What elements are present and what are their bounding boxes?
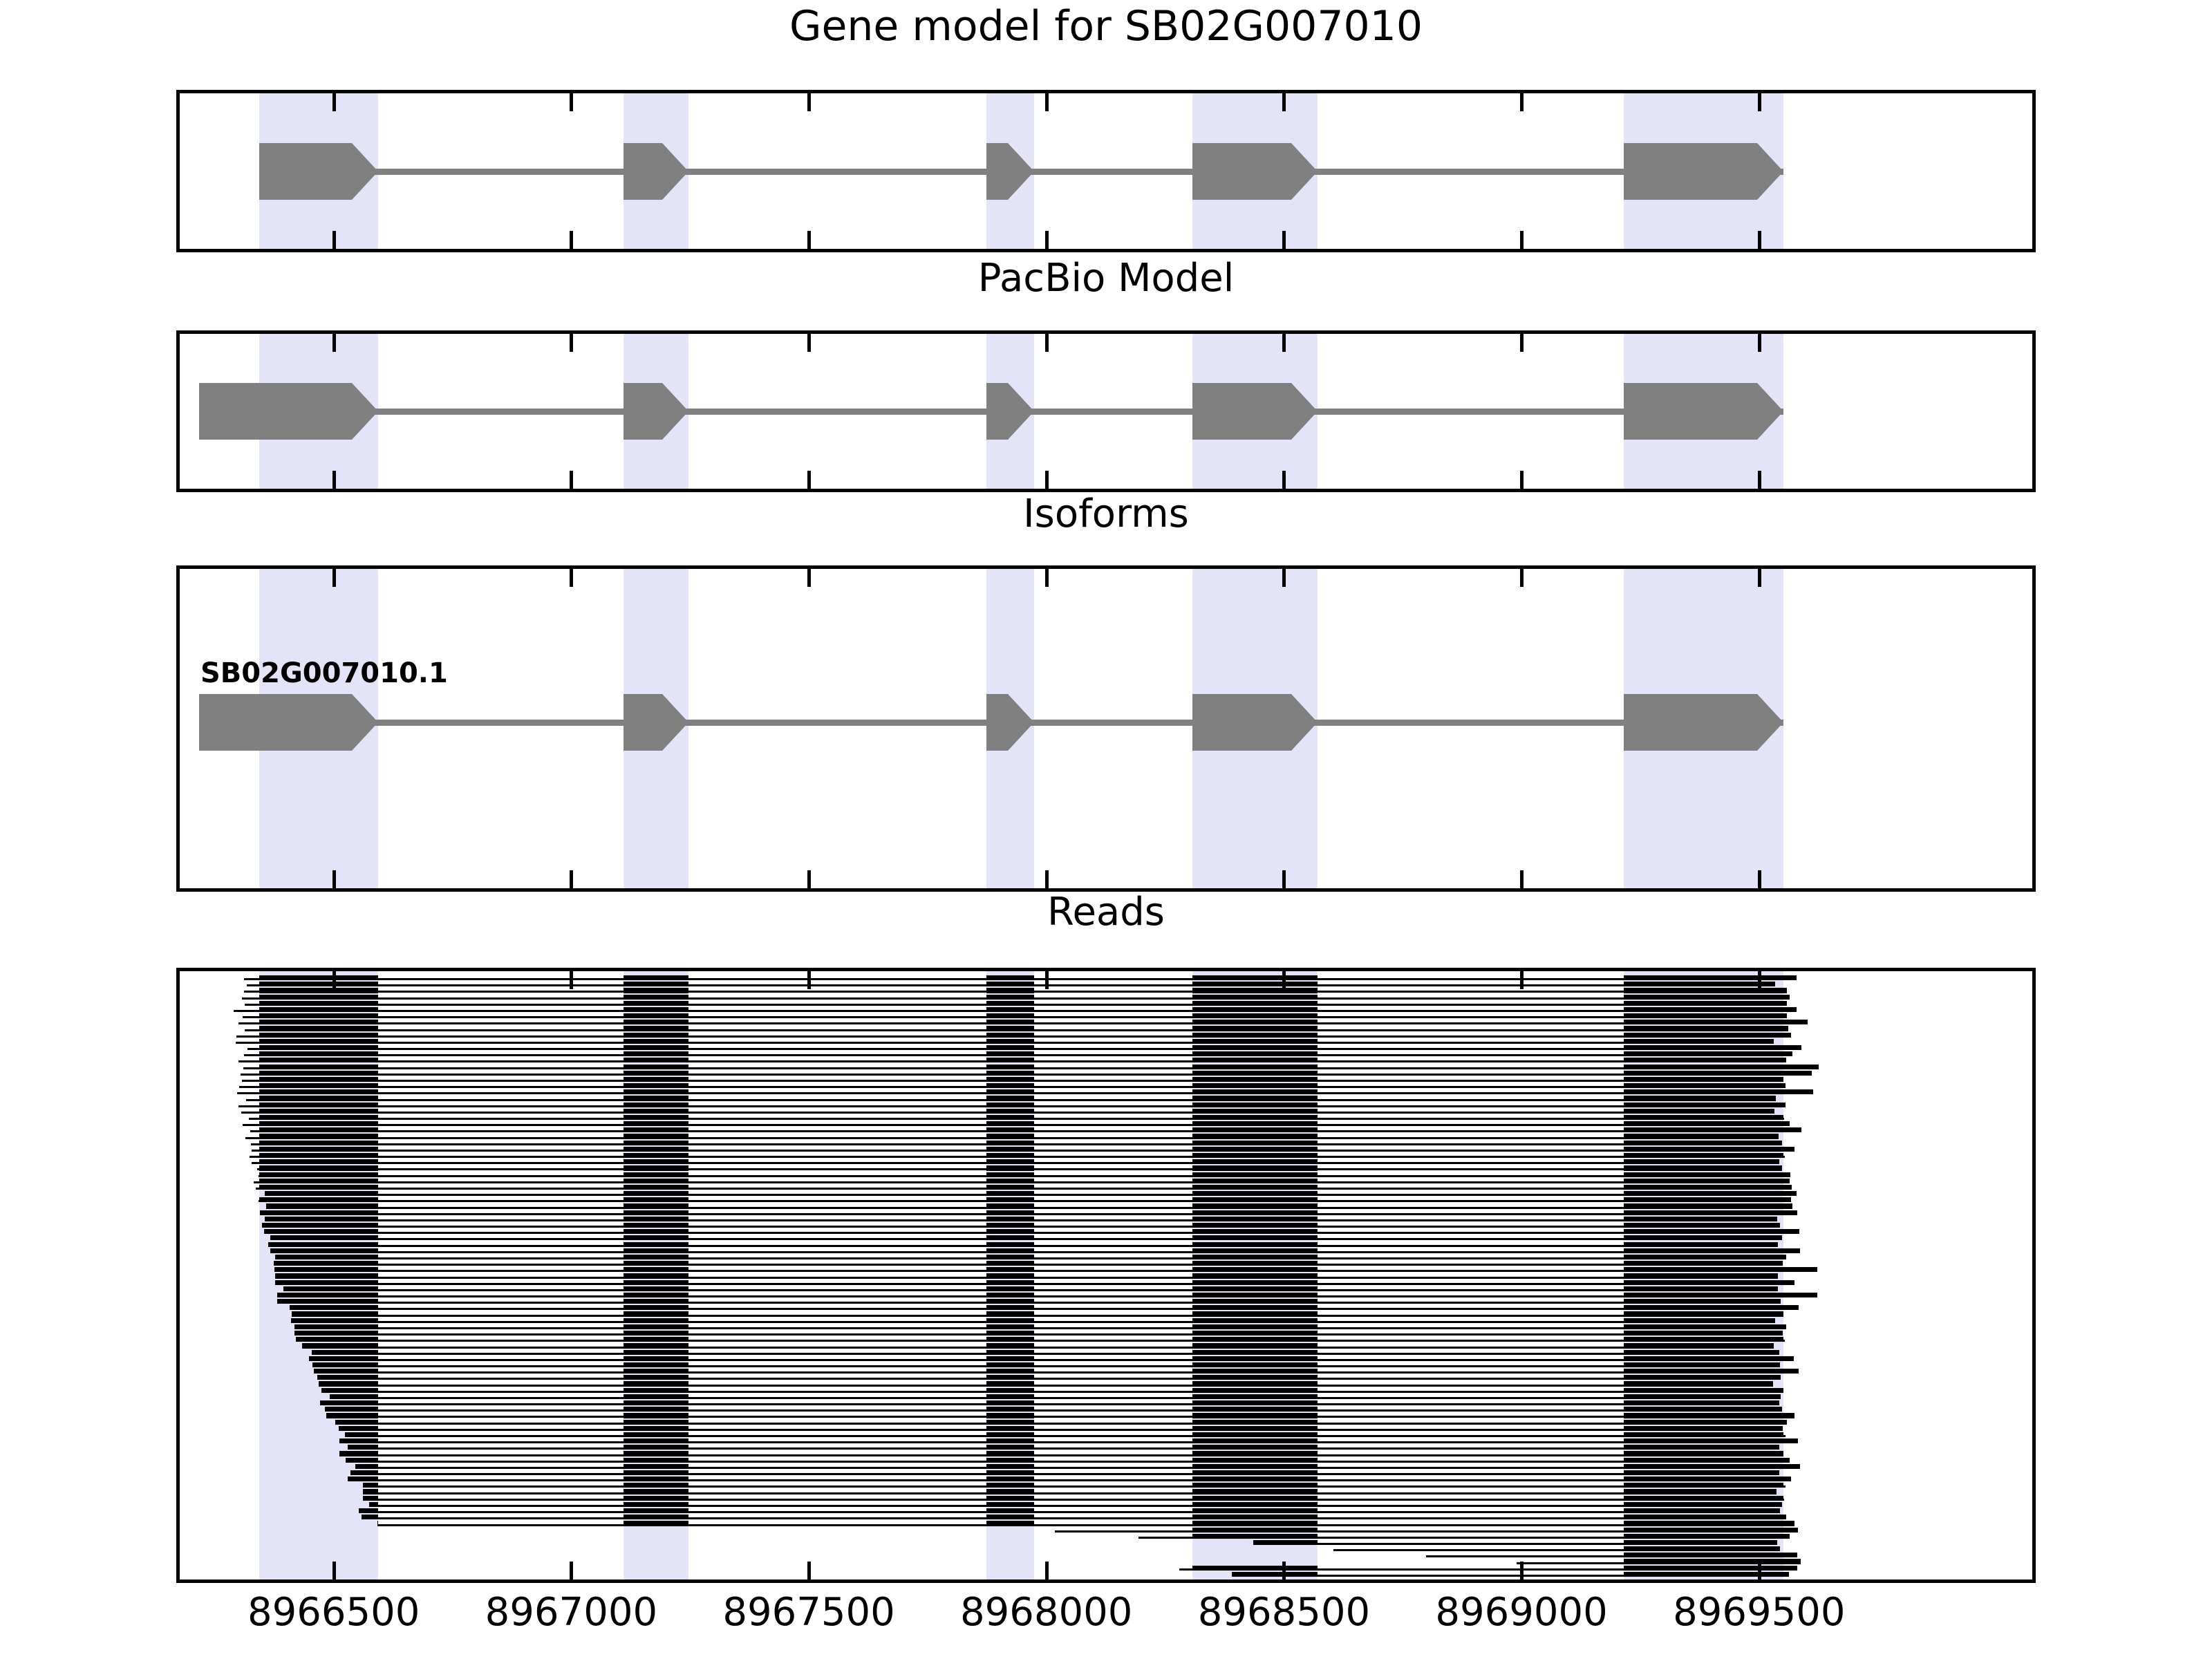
axis-tick-8968000 (1045, 471, 1049, 489)
exon-body (986, 694, 1008, 751)
read-exon-block (1192, 1508, 1318, 1513)
read-exon-block (624, 1210, 688, 1215)
read-intron-line (309, 1359, 1794, 1361)
axis-tick-8967500 (807, 870, 811, 888)
read-exon-block (986, 1026, 1034, 1031)
read-exon-block (624, 1026, 688, 1031)
read-exon-block (265, 1191, 379, 1196)
read-intron-line (330, 1397, 1781, 1399)
axis-tick-8966500 (332, 569, 336, 587)
read-exon-block (986, 1356, 1034, 1361)
axis-tick-8966500 (332, 1562, 336, 1580)
read-exon-block (1624, 1464, 1783, 1469)
axis-tick-8967000 (570, 93, 573, 111)
exon-block-1 (199, 694, 378, 751)
read-exon-block (624, 1394, 688, 1399)
exon-body (1624, 383, 1757, 440)
read-exon-block (1192, 1141, 1318, 1145)
read-exon-block (363, 1496, 378, 1501)
read-exon-block (362, 1515, 378, 1519)
read-exon-block (1624, 1483, 1783, 1488)
read-exon-block (275, 1255, 378, 1259)
read-exon-block (259, 1007, 379, 1012)
read-exon-block (624, 1058, 688, 1062)
read-exon-block (1624, 1407, 1782, 1412)
read-exon-block (1624, 1134, 1779, 1138)
read-exon-block (259, 988, 379, 993)
read-terminal-block (1783, 1172, 1790, 1177)
read-exon-block (986, 1007, 1034, 1012)
read-exon-block (624, 1343, 688, 1348)
read-intron-line (274, 1270, 1817, 1272)
read-exon-block (1192, 1191, 1318, 1196)
read-exon-block (624, 1109, 688, 1114)
axis-tick-8969500 (1758, 569, 1761, 587)
read-exon-block (624, 1185, 688, 1190)
read-exon-block (1192, 1217, 1318, 1221)
axis-tick-8969500 (1758, 93, 1761, 111)
read-exon-block (259, 1121, 379, 1126)
read-terminal-block (1783, 1521, 1794, 1526)
read-exon-block (1192, 1451, 1318, 1456)
read-exon-block (624, 1115, 688, 1120)
axis-tick-8966500 (332, 870, 336, 888)
read-exon-block (1624, 1426, 1783, 1431)
x-tick-label-8969000: 8969000 (1435, 1593, 1607, 1632)
exon-body (624, 694, 662, 751)
panel-reads (176, 968, 2036, 1583)
read-exon-block (1192, 1534, 1318, 1539)
read-exon-block (1624, 1420, 1783, 1425)
exon-arrowhead (662, 694, 688, 751)
read-exon-block (345, 1432, 379, 1437)
read-exon-block (1624, 1255, 1783, 1259)
axis-tick-8968000 (1045, 93, 1049, 111)
read-terminal-block (1783, 1013, 1787, 1018)
read-exon-block (1624, 1210, 1783, 1215)
exon-body (1624, 143, 1757, 200)
read-exon-block (624, 975, 688, 980)
read-intron-line (363, 1485, 1785, 1488)
read-exon-block (986, 1248, 1034, 1253)
read-exon-block (259, 1115, 379, 1120)
read-exon-block (1192, 1255, 1318, 1259)
read-exon-block (259, 1127, 379, 1132)
read-exon-block (1192, 1127, 1318, 1132)
read-exon-block (314, 1369, 378, 1374)
read-exon-block (986, 1293, 1034, 1297)
read-exon-block (1624, 1521, 1783, 1526)
read-terminal-block (1783, 1089, 1813, 1094)
axis-tick-8969500 (1758, 231, 1761, 249)
read-exon-block (259, 1185, 379, 1190)
read-terminal-block (1783, 988, 1787, 993)
axis-tick-8968000 (1045, 231, 1049, 249)
read-exon-block (1624, 1103, 1783, 1107)
read-exon-block (986, 1318, 1034, 1323)
axis-tick-8967000 (570, 1562, 573, 1580)
axis-tick-8969000 (1520, 231, 1524, 249)
read-terminal-block (1783, 1248, 1801, 1253)
read-exon-block (986, 1109, 1034, 1114)
read-exon-block (1192, 1426, 1318, 1431)
read-terminal-block (1783, 1305, 1799, 1310)
read-terminal-block (1783, 1071, 1812, 1076)
axis-tick-8969000 (1520, 93, 1524, 111)
read-exon-block (624, 1508, 688, 1513)
panel-title-reads: Reads (0, 893, 2212, 932)
read-exon-block (1624, 1553, 1783, 1557)
read-exon-block (624, 1077, 688, 1082)
read-exon-block (339, 1426, 378, 1431)
read-exon-block (986, 1261, 1034, 1266)
read-exon-block (1624, 1311, 1783, 1316)
read-exon-block (259, 1134, 379, 1138)
read-exon-block (1624, 1337, 1783, 1342)
read-intron-line (346, 1461, 1789, 1463)
read-exon-block (350, 1470, 378, 1475)
read-exon-block (1624, 1039, 1774, 1044)
read-exon-block (259, 1165, 379, 1170)
read-exon-block (1192, 1470, 1318, 1475)
read-exon-block (259, 1172, 379, 1177)
read-exon-block (1192, 1515, 1318, 1519)
read-exon-block (1192, 1197, 1318, 1202)
read-exon-block (986, 1400, 1034, 1405)
read-exon-block (624, 1203, 688, 1208)
read-exon-block (1624, 1071, 1783, 1076)
read-exon-block (259, 1141, 379, 1145)
read-exon-block (986, 1337, 1034, 1342)
read-intron-line (294, 1327, 1786, 1329)
read-terminal-block (1783, 1534, 1790, 1539)
read-exon-block (1192, 1311, 1318, 1316)
read-terminal-block (1783, 1369, 1799, 1374)
read-exon-block (1192, 1235, 1318, 1240)
read-terminal-block (1783, 1001, 1787, 1006)
read-terminal-block (1783, 1566, 1797, 1571)
read-exon-block (1192, 1261, 1318, 1266)
read-terminal-block (1783, 1197, 1791, 1202)
read-exon-block (259, 1013, 379, 1018)
read-exon-block (1192, 988, 1318, 993)
read-exon-block (1192, 1039, 1318, 1044)
read-exon-block (624, 1477, 688, 1481)
read-exon-block (986, 1470, 1034, 1475)
read-exon-block (624, 1103, 688, 1107)
read-exon-block (1624, 1540, 1777, 1545)
read-terminal-block (1783, 1191, 1797, 1196)
read-exon-block (1192, 1400, 1318, 1405)
read-exon-block (624, 1331, 688, 1335)
read-exon-block (624, 1432, 688, 1437)
axis-tick-8969500 (1758, 471, 1761, 489)
exon-arrowhead (352, 383, 378, 440)
exon-arrowhead (1757, 143, 1783, 200)
read-exon-block (986, 988, 1034, 993)
read-exon-block (325, 1407, 379, 1412)
read-intron-line (296, 1340, 1784, 1342)
read-exon-block (363, 1489, 378, 1494)
exon-arrowhead (1008, 143, 1034, 200)
read-exon-block (986, 1458, 1034, 1463)
read-intron-line (359, 1511, 1780, 1513)
read-exon-block (986, 1331, 1034, 1335)
panel-isoforms: SB02G007010.1 (176, 565, 2036, 892)
read-exon-block (624, 1153, 688, 1158)
read-exon-block (624, 1286, 688, 1291)
read-exon-block (1624, 1147, 1783, 1152)
read-exon-block (986, 1077, 1034, 1082)
read-exon-block (986, 1071, 1034, 1076)
axis-tick-8967000 (570, 471, 573, 489)
exon-arrowhead (352, 143, 378, 200)
exon-body (1192, 694, 1291, 751)
read-exon-block (1192, 1337, 1318, 1342)
read-exon-block (359, 1508, 378, 1513)
read-exon-block (346, 1458, 378, 1463)
x-tick-label-8969500: 8969500 (1673, 1593, 1845, 1632)
read-exon-block (624, 1324, 688, 1329)
read-intron-line (320, 1403, 1779, 1405)
axis-tick-8967500 (807, 334, 811, 352)
read-exon-block (1624, 1305, 1783, 1310)
read-exon-block (1624, 1331, 1783, 1335)
read-exon-block (296, 1337, 378, 1342)
read-exon-block (1253, 1540, 1318, 1545)
read-terminal-block (1783, 1515, 1786, 1519)
read-exon-block (259, 982, 379, 986)
read-exon-block (986, 1324, 1034, 1329)
read-exon-block (986, 1242, 1034, 1247)
read-exon-block (986, 1311, 1034, 1316)
read-exon-block (292, 1311, 378, 1316)
read-exon-block (1624, 1001, 1783, 1006)
read-exon-block (624, 1096, 688, 1100)
read-exon-block (624, 1255, 688, 1259)
read-terminal-block (1783, 1559, 1801, 1564)
read-exon-block (259, 1033, 379, 1038)
read-terminal-block (1783, 1420, 1787, 1425)
read-terminal-block (1783, 1477, 1791, 1481)
read-exon-block (986, 1020, 1034, 1024)
read-terminal-block (1783, 1185, 1792, 1190)
read-exon-block (259, 995, 379, 1000)
read-exon-block (1624, 1559, 1783, 1564)
read-exon-block (624, 1051, 688, 1056)
read-exon-block (624, 1273, 688, 1278)
read-exon-block (624, 1172, 688, 1177)
read-exon-block (624, 995, 688, 1000)
read-exon-block (1192, 1159, 1318, 1164)
read-intron-line (339, 1429, 1783, 1431)
read-exon-block (1624, 1058, 1783, 1062)
read-exon-block (986, 1103, 1034, 1107)
read-exon-block (624, 1369, 688, 1374)
read-exon-block (1624, 1381, 1774, 1386)
read-terminal-block (1783, 1413, 1795, 1418)
axis-tick-8968500 (1282, 93, 1286, 111)
read-exon-block (259, 1147, 379, 1152)
read-exon-block (330, 1394, 378, 1399)
read-exon-block (624, 1400, 688, 1405)
read-exon-block (266, 1203, 378, 1208)
read-intron-line (275, 1283, 1794, 1285)
read-intron-line (363, 1492, 1777, 1494)
read-exon-block (986, 982, 1034, 986)
read-exon-block (624, 1413, 688, 1418)
read-intron-line (335, 1423, 1787, 1425)
read-exon-block (1624, 1273, 1778, 1278)
read-exon-block (1624, 1508, 1781, 1513)
read-terminal-block (1783, 1179, 1790, 1183)
read-intron-line (314, 1371, 1799, 1374)
exon-arrowhead (1757, 694, 1783, 751)
read-exon-block (1192, 1362, 1318, 1367)
read-exon-block (986, 1051, 1034, 1056)
read-exon-block (1192, 1203, 1318, 1208)
read-exon-block (1624, 1121, 1783, 1126)
read-exon-block (624, 1013, 688, 1018)
read-exon-block (986, 1343, 1034, 1348)
read-exon-block (291, 1318, 378, 1323)
exon-arrowhead (662, 143, 688, 200)
read-exon-block (274, 1267, 378, 1272)
read-exon-block (624, 1464, 688, 1469)
read-terminal-block (1783, 1051, 1792, 1056)
read-exon-block (1624, 1109, 1774, 1114)
read-exon-block (1624, 1470, 1779, 1475)
exon-arrowhead (352, 694, 378, 751)
read-exon-block (1192, 1566, 1318, 1571)
read-exon-block (265, 1217, 378, 1221)
x-tick-label-8968500: 8968500 (1198, 1593, 1370, 1632)
read-exon-block (986, 1350, 1034, 1355)
read-exon-block (1624, 1369, 1783, 1374)
read-exon-block (259, 1179, 379, 1183)
read-exon-block (1192, 1045, 1318, 1050)
read-exon-block (986, 1489, 1034, 1494)
read-exon-block (1192, 1420, 1318, 1425)
read-exon-block (1624, 1217, 1777, 1221)
read-exon-block (986, 1502, 1034, 1507)
read-exon-block (1192, 1210, 1318, 1215)
read-exon-block (986, 1134, 1034, 1138)
read-exon-block (321, 1388, 379, 1393)
read-exon-block (1624, 1566, 1783, 1571)
panel-title-isoforms: Isoforms (0, 495, 2212, 534)
exon-block-3 (986, 694, 1034, 751)
read-exon-block (1624, 1197, 1783, 1202)
axis-tick-8968000 (1045, 334, 1049, 352)
panel-pacbio-model (176, 330, 2036, 492)
read-exon-block (624, 1134, 688, 1138)
read-exon-block (624, 1007, 688, 1012)
read-exon-block (348, 1477, 378, 1481)
read-exon-block (986, 1121, 1034, 1126)
read-exon-block (1192, 1375, 1318, 1380)
read-terminal-block (1783, 1020, 1808, 1024)
isoform-label: SB02G007010.1 (200, 657, 448, 689)
read-exon-block (348, 1445, 378, 1450)
read-exon-block (1624, 1153, 1783, 1158)
axis-tick-8967000 (570, 231, 573, 249)
read-exon-block (1192, 1013, 1318, 1018)
read-exon-block (1624, 1451, 1783, 1456)
read-exon-block (1624, 1502, 1782, 1507)
read-exon-block (624, 1033, 688, 1038)
read-exon-block (320, 1400, 378, 1405)
read-exon-block (986, 1273, 1034, 1278)
read-exon-block (986, 1286, 1034, 1291)
read-exon-block (1624, 1141, 1782, 1145)
read-intron-line (369, 1505, 1782, 1507)
exon-arrowhead (1008, 694, 1034, 751)
read-exon-block (986, 1255, 1034, 1259)
read-exon-block (986, 1267, 1034, 1272)
axis-tick-8969000 (1520, 1562, 1524, 1580)
read-intron-line (290, 1308, 1799, 1310)
axis-tick-8968000 (1045, 1562, 1049, 1580)
read-exon-block (986, 1375, 1034, 1380)
read-exon-block (1624, 1394, 1781, 1399)
read-exon-block (624, 1305, 688, 1310)
read-exon-block (1192, 1007, 1318, 1012)
read-exon-block (1192, 1248, 1318, 1253)
read-exon-block (268, 1242, 378, 1247)
read-exon-block (624, 1248, 688, 1253)
read-exon-block (259, 1045, 379, 1050)
read-exon-block (624, 1147, 688, 1152)
read-exon-block (986, 1089, 1034, 1094)
read-exon-block (624, 1350, 688, 1355)
read-intron-line (294, 1333, 1783, 1335)
exon-body (1624, 694, 1757, 751)
read-exon-block (624, 1521, 688, 1526)
read-exon-block (1624, 1159, 1779, 1164)
read-exon-block (259, 1001, 379, 1006)
read-exon-block (259, 1083, 379, 1088)
read-terminal-block (1783, 1229, 1799, 1234)
read-exon-block (1624, 982, 1775, 986)
read-exon-block (624, 1515, 688, 1519)
read-exon-block (986, 1001, 1034, 1006)
axis-tick-8967000 (570, 870, 573, 888)
read-exon-block (1192, 1115, 1318, 1120)
read-exon-block (624, 1451, 688, 1456)
read-exon-block (986, 1381, 1034, 1386)
read-exon-block (259, 1089, 379, 1094)
axis-tick-8969000 (1520, 569, 1524, 587)
read-exon-block (624, 1407, 688, 1412)
x-tick-label-8968000: 8968000 (960, 1593, 1132, 1632)
axis-tick-8967500 (807, 471, 811, 489)
read-exon-block (1624, 1318, 1776, 1323)
read-exon-block (986, 1432, 1034, 1437)
read-terminal-block (1783, 1572, 1790, 1577)
read-exon-block (1192, 1134, 1318, 1138)
read-exon-block (339, 1438, 379, 1443)
read-terminal-block (1783, 1147, 1794, 1152)
read-intron-line (270, 1251, 1801, 1253)
axis-tick-8969000 (1520, 334, 1524, 352)
read-exon-block (1192, 1179, 1318, 1183)
read-exon-block (369, 1502, 379, 1507)
exon-arrowhead (1291, 694, 1318, 751)
read-exon-block (986, 1083, 1034, 1088)
read-exon-block (1192, 1356, 1318, 1361)
read-exon-block (624, 1438, 688, 1443)
